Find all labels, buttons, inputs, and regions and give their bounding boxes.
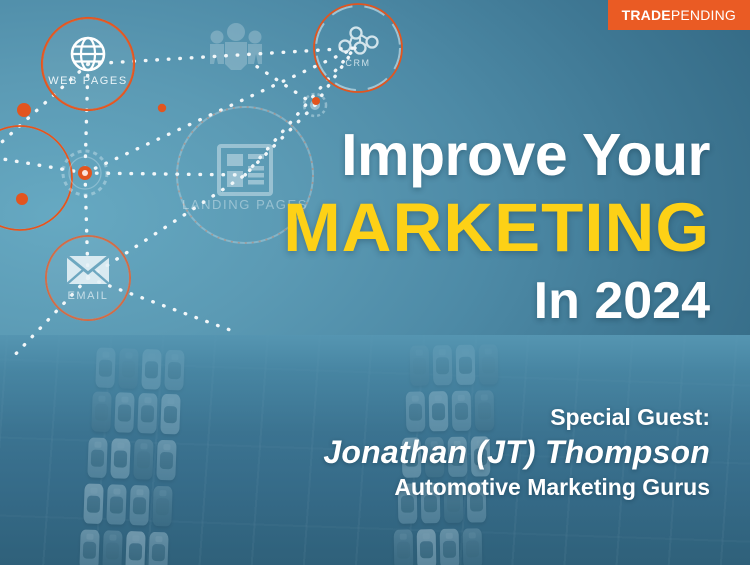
- headline-block: Improve Your MARKETING In 2024: [20, 124, 710, 332]
- network-nodes-icon: [340, 28, 378, 54]
- network-node-label: CRM: [345, 58, 370, 68]
- logo-text-bold: TRADE: [622, 7, 671, 23]
- special-guest-company: Automotive Marketing Gurus: [20, 472, 710, 502]
- people-group-icon: [210, 23, 262, 70]
- headline-line-2: MARKETING: [20, 186, 710, 270]
- network-node-label: WEB PAGES: [48, 75, 128, 87]
- webinar-promo-banner: WEB PAGES CRM: [0, 0, 750, 565]
- headline-line-1: Improve Your: [20, 124, 710, 186]
- headline-line-3: In 2024: [20, 270, 710, 332]
- special-guest-name: Jonathan (JT) Thompson: [20, 432, 710, 472]
- network-node-crm[interactable]: CRM: [340, 28, 378, 69]
- special-guest-block: Special Guest: Jonathan (JT) Thompson Au…: [20, 403, 710, 502]
- network-node-web-pages[interactable]: WEB PAGES: [42, 18, 134, 110]
- logo-text-light: PENDING: [671, 7, 736, 23]
- tradepending-logo[interactable]: TRADEPENDING: [608, 0, 750, 30]
- special-guest-label: Special Guest:: [20, 403, 710, 432]
